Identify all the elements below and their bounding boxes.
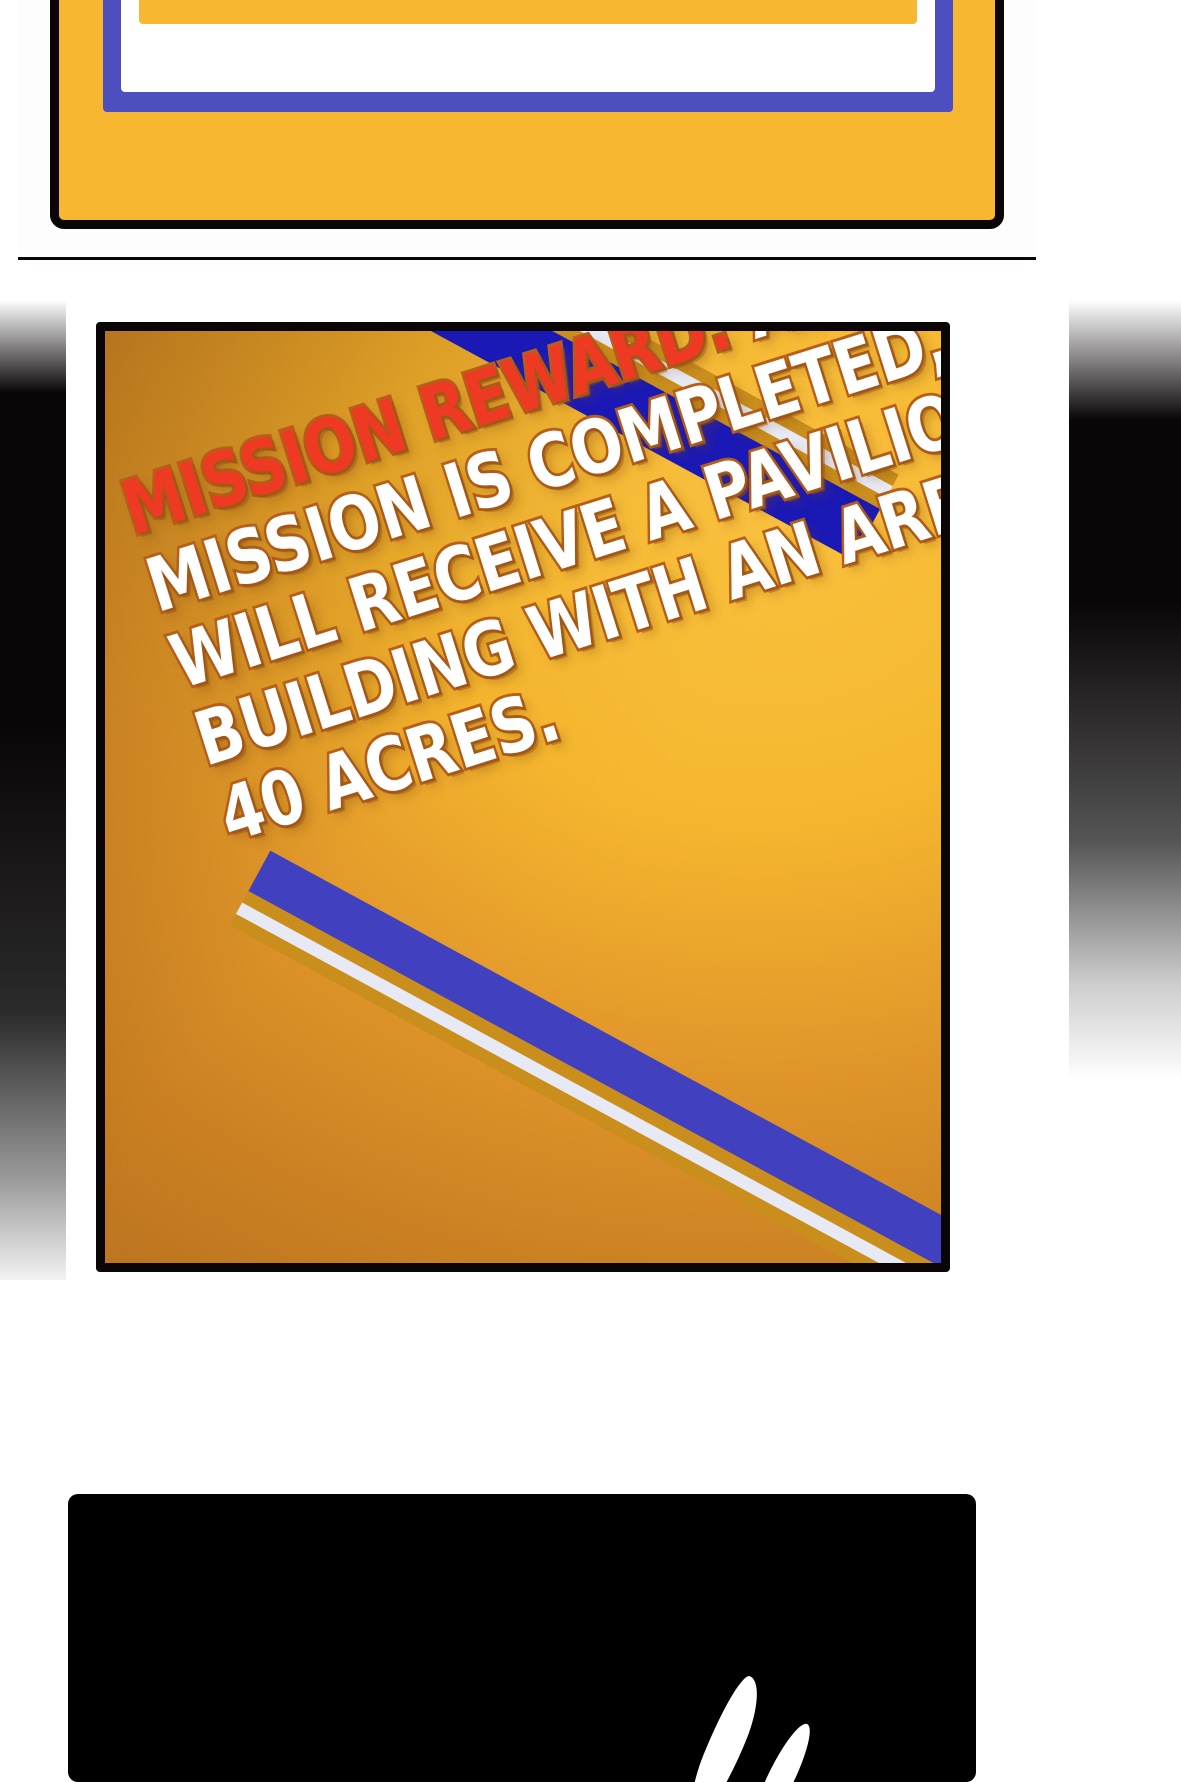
panel-mission-reward: MISSION REWARD: AFTER THE MISSION IS COM… bbox=[70, 298, 962, 1286]
right-edge-vignette bbox=[1069, 0, 1181, 1772]
panel-divider bbox=[18, 257, 1036, 260]
panel-border: MISSION REWARD: AFTER THE MISSION IS COM… bbox=[96, 322, 950, 1272]
panel-plaque bbox=[18, 0, 1036, 265]
white-shape-a bbox=[681, 1671, 769, 1782]
plaque-artwork bbox=[50, 0, 1004, 229]
plaque-frame-yellow-mid bbox=[139, 0, 917, 24]
panel-dark bbox=[62, 1488, 982, 1772]
mission-reward-artwork: MISSION REWARD: AFTER THE MISSION IS COM… bbox=[105, 331, 941, 1263]
dark-panel-artwork bbox=[68, 1494, 976, 1782]
white-shape-b bbox=[743, 1718, 819, 1782]
comic-page: MISSION REWARD: AFTER THE MISSION IS COM… bbox=[0, 0, 1181, 1772]
